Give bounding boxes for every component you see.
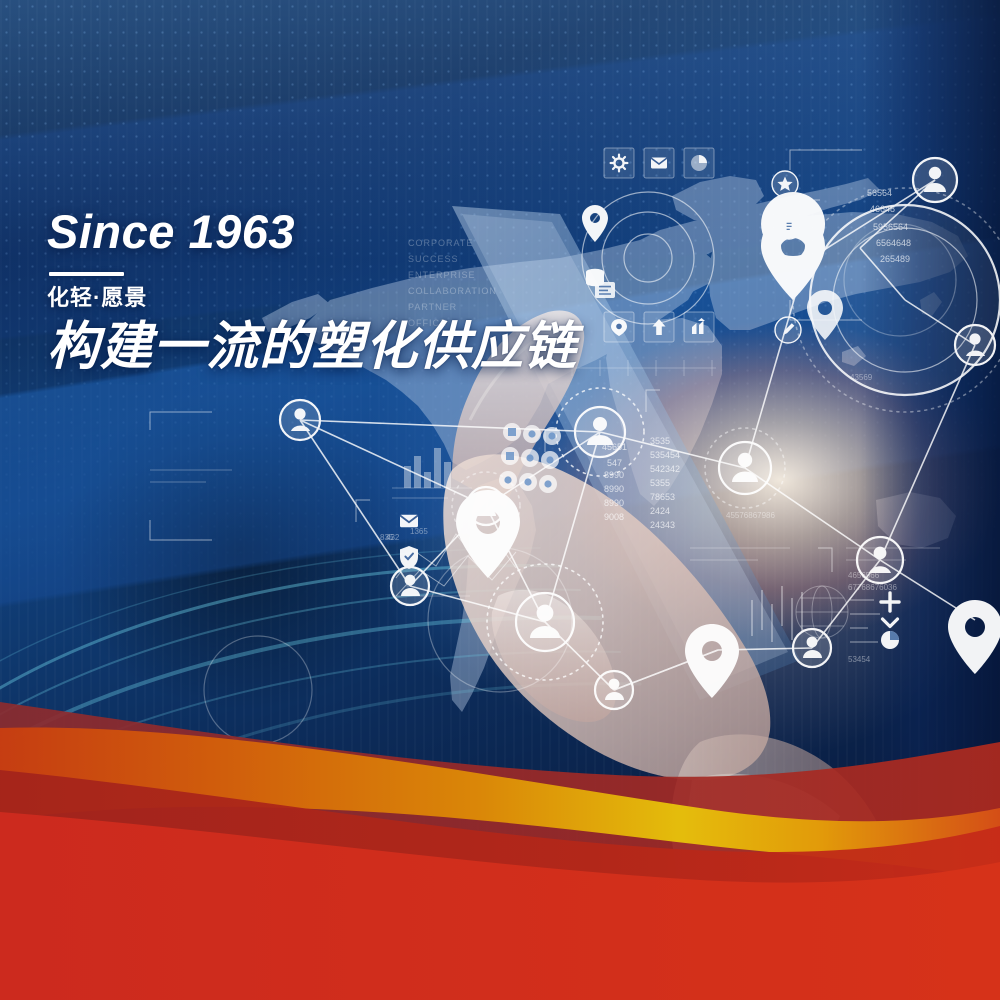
svg-text:5355: 5355 — [650, 478, 670, 488]
envelope-icon — [651, 158, 667, 169]
svg-text:535454: 535454 — [650, 450, 680, 460]
network-node-person — [280, 400, 320, 440]
svg-text:46648: 46648 — [870, 204, 895, 214]
svg-text:78653: 78653 — [650, 492, 675, 502]
star-icon — [772, 171, 798, 197]
svg-text:835: 835 — [380, 533, 394, 542]
svg-text:67768676036: 67768676036 — [848, 583, 897, 592]
svg-text:547: 547 — [607, 458, 622, 468]
location-pin-icon — [456, 490, 520, 578]
envelope-icon — [400, 515, 418, 527]
svg-text:641: 641 — [468, 545, 482, 554]
icon-tile-row-top — [604, 148, 714, 178]
pie-chart-icon — [691, 155, 707, 171]
svg-text:56564: 56564 — [867, 188, 892, 198]
svg-text:8990: 8990 — [604, 484, 624, 494]
network-node-person — [516, 593, 574, 651]
svg-text:43569: 43569 — [850, 373, 873, 382]
candlestick-graphic — [752, 586, 802, 642]
phone-keypad-icons — [499, 423, 561, 493]
svg-text:4656566: 4656566 — [848, 571, 880, 580]
promotional-banner: CORPORATE SUCCESS ENTERPRISE COLLABORATI… — [0, 0, 1000, 1000]
svg-text:3535: 3535 — [650, 436, 670, 446]
svg-text:6564648: 6564648 — [876, 238, 911, 248]
bottom-wave-decoration — [0, 680, 1000, 1000]
banner-copy-block: Since 1963 化轻·愿景 构建一流的塑化供应链 — [47, 208, 577, 375]
svg-text:1365: 1365 — [410, 527, 428, 536]
svg-text:265489: 265489 — [880, 254, 910, 264]
eyebrow-since-1963: Since 1963 — [47, 208, 577, 255]
svg-text:2424: 2424 — [650, 506, 670, 516]
shield-icon — [400, 546, 418, 569]
globe-wireframe — [796, 586, 848, 638]
network-node-person — [793, 629, 831, 667]
clock-icon — [881, 631, 899, 649]
svg-text:45651: 45651 — [602, 442, 627, 452]
svg-text:45576867986: 45576867986 — [726, 511, 775, 520]
divider-rule — [49, 272, 124, 276]
headline-slogan: 构建一流的塑化供应链 — [47, 319, 577, 375]
svg-text:8990: 8990 — [604, 498, 624, 508]
svg-text:8990: 8990 — [604, 470, 624, 480]
icon-tile-row-middle — [604, 312, 714, 342]
location-pin-icon — [948, 600, 1000, 674]
svg-text:53454: 53454 — [848, 655, 871, 664]
svg-text:5956564: 5956564 — [873, 222, 908, 232]
svg-text:24343: 24343 — [650, 520, 675, 530]
database-icon — [586, 269, 604, 286]
network-node-person — [719, 442, 771, 494]
list-icon — [850, 600, 880, 642]
subtitle-vision: 化轻·愿景 — [47, 286, 577, 310]
plus-icon — [881, 593, 899, 611]
icon-column-right — [850, 593, 899, 649]
svg-text:9008: 9008 — [604, 512, 624, 522]
bar-chart-graphic — [404, 448, 451, 488]
document-icon — [776, 213, 802, 239]
network-node-person — [913, 158, 957, 202]
network-node-person — [955, 325, 995, 365]
svg-text:542342: 542342 — [650, 464, 680, 474]
pencil-icon — [775, 317, 801, 343]
chevron-down-icon — [883, 619, 898, 627]
